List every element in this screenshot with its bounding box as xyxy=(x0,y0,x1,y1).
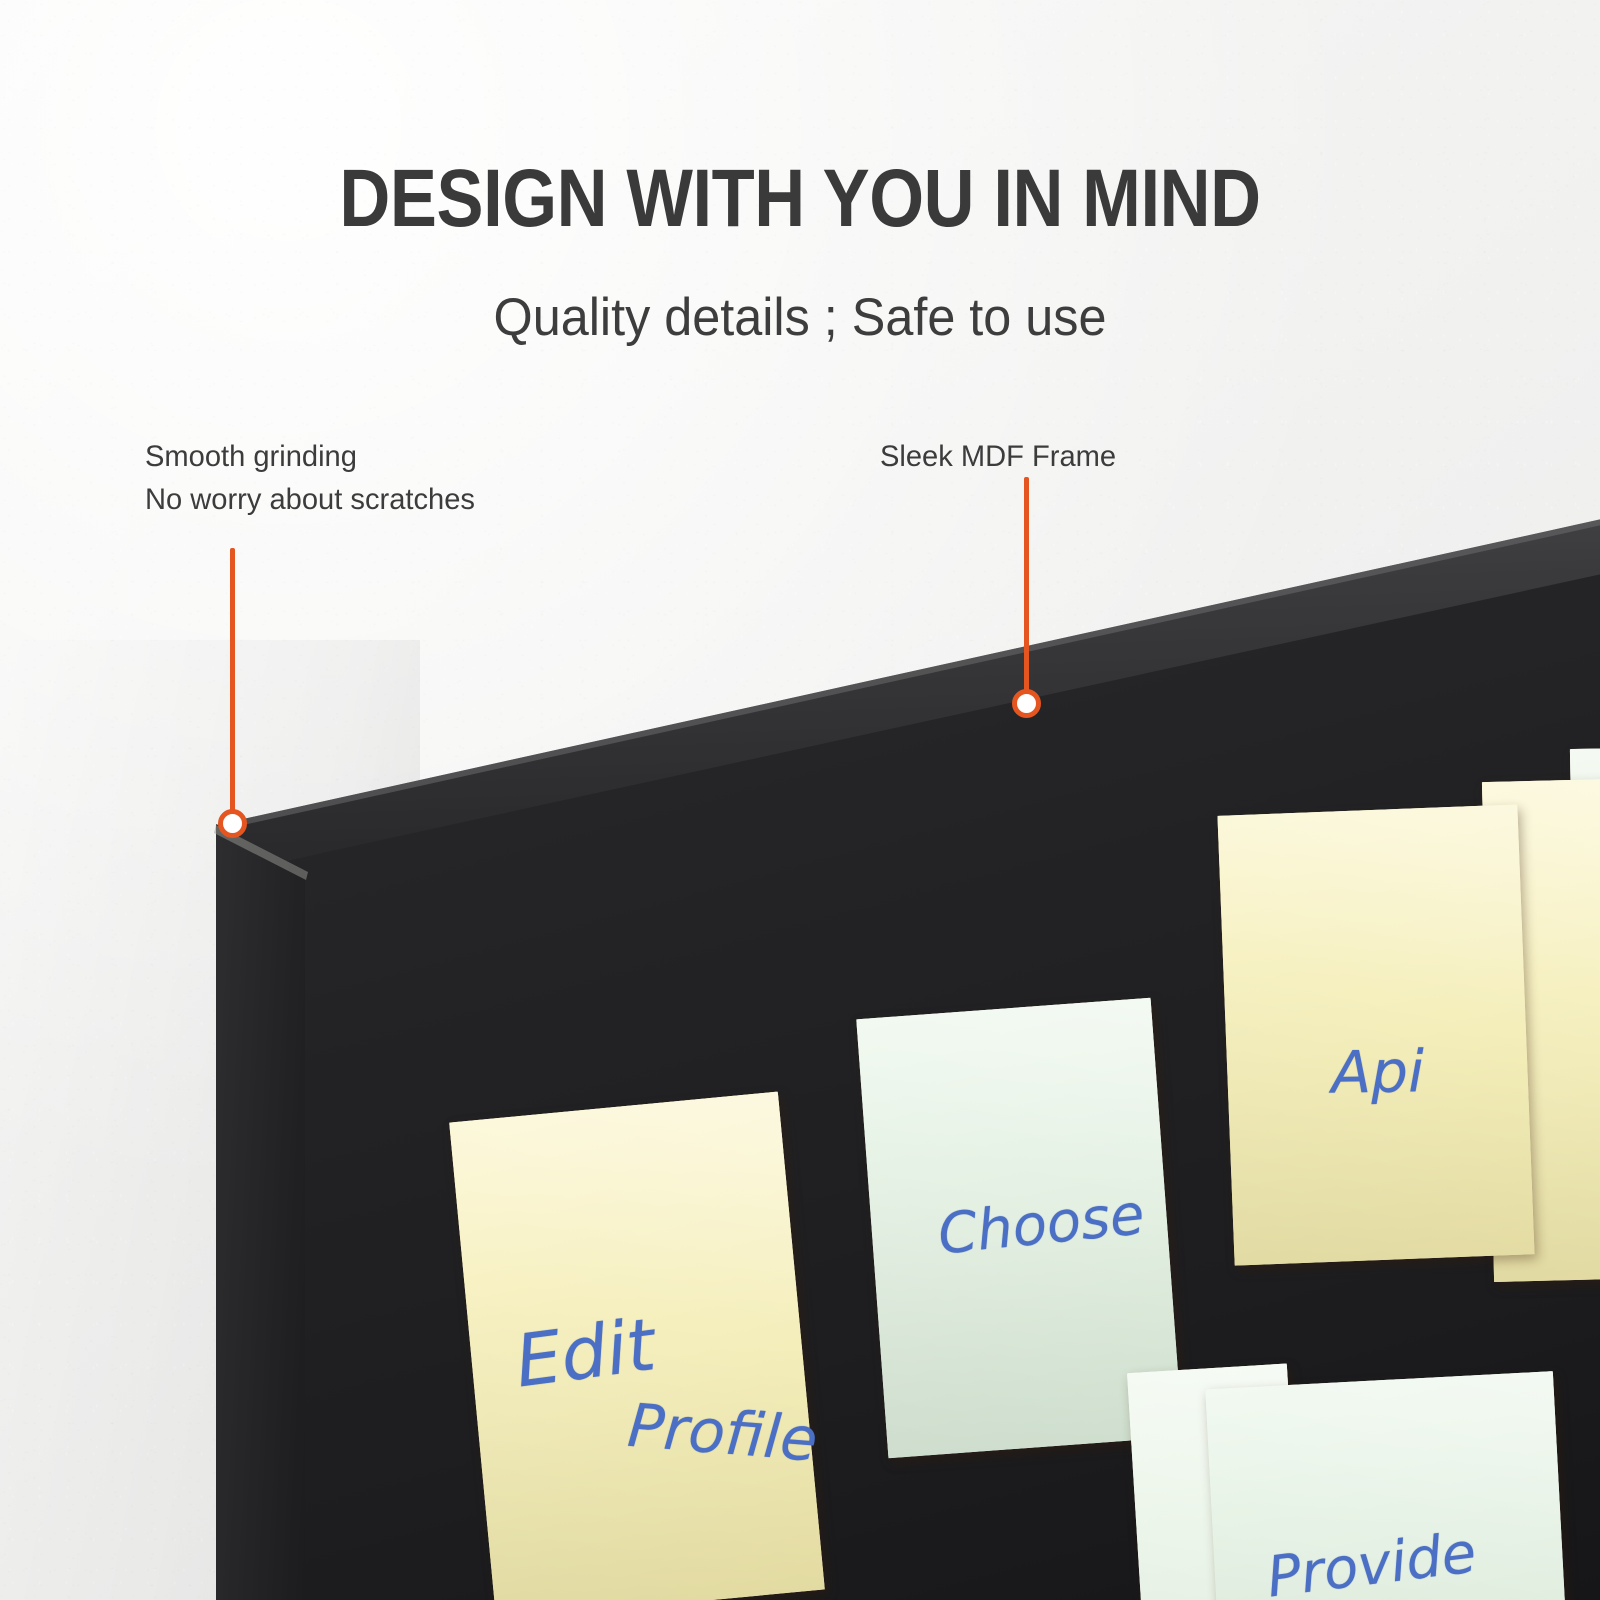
page-title: DESIGN WITH YOU IN MIND xyxy=(112,158,1488,240)
note-handwriting-edit-line1: Edit xyxy=(511,1302,660,1403)
callout-label-smooth-grinding: Smooth grinding No worry about scratches xyxy=(145,436,475,521)
page-subtitle: Quality details ; Safe to use xyxy=(40,288,1560,349)
callout-leader-line-left xyxy=(230,548,235,826)
callout-marker-dot-left xyxy=(218,809,247,838)
frame-left-side-edge xyxy=(200,798,320,1600)
product-feature-image: DESIGN WITH YOU IN MIND Quality details … xyxy=(0,0,1600,1600)
sticky-note-provide[interactable]: Provide His URL xyxy=(1205,1371,1575,1600)
callout-line-1: Sleek MDF Frame xyxy=(880,436,1116,479)
cork-board: Api Choose Provide His URL Edit Profile xyxy=(0,480,1600,1600)
callout-line-1: Smooth grinding xyxy=(145,436,475,479)
callout-marker-dot-right xyxy=(1012,689,1041,718)
note-sheen xyxy=(1217,804,1534,1265)
callout-line-2: No worry about scratches xyxy=(145,479,475,522)
note-handwriting-api: Api xyxy=(1331,1037,1425,1106)
sticky-note-edit-profile[interactable]: Edit Profile xyxy=(449,1092,825,1600)
sticky-note-api[interactable]: Api xyxy=(1217,804,1534,1265)
callout-leader-line-right xyxy=(1024,477,1029,705)
callout-label-sleek-mdf-frame: Sleek MDF Frame xyxy=(880,436,1116,479)
